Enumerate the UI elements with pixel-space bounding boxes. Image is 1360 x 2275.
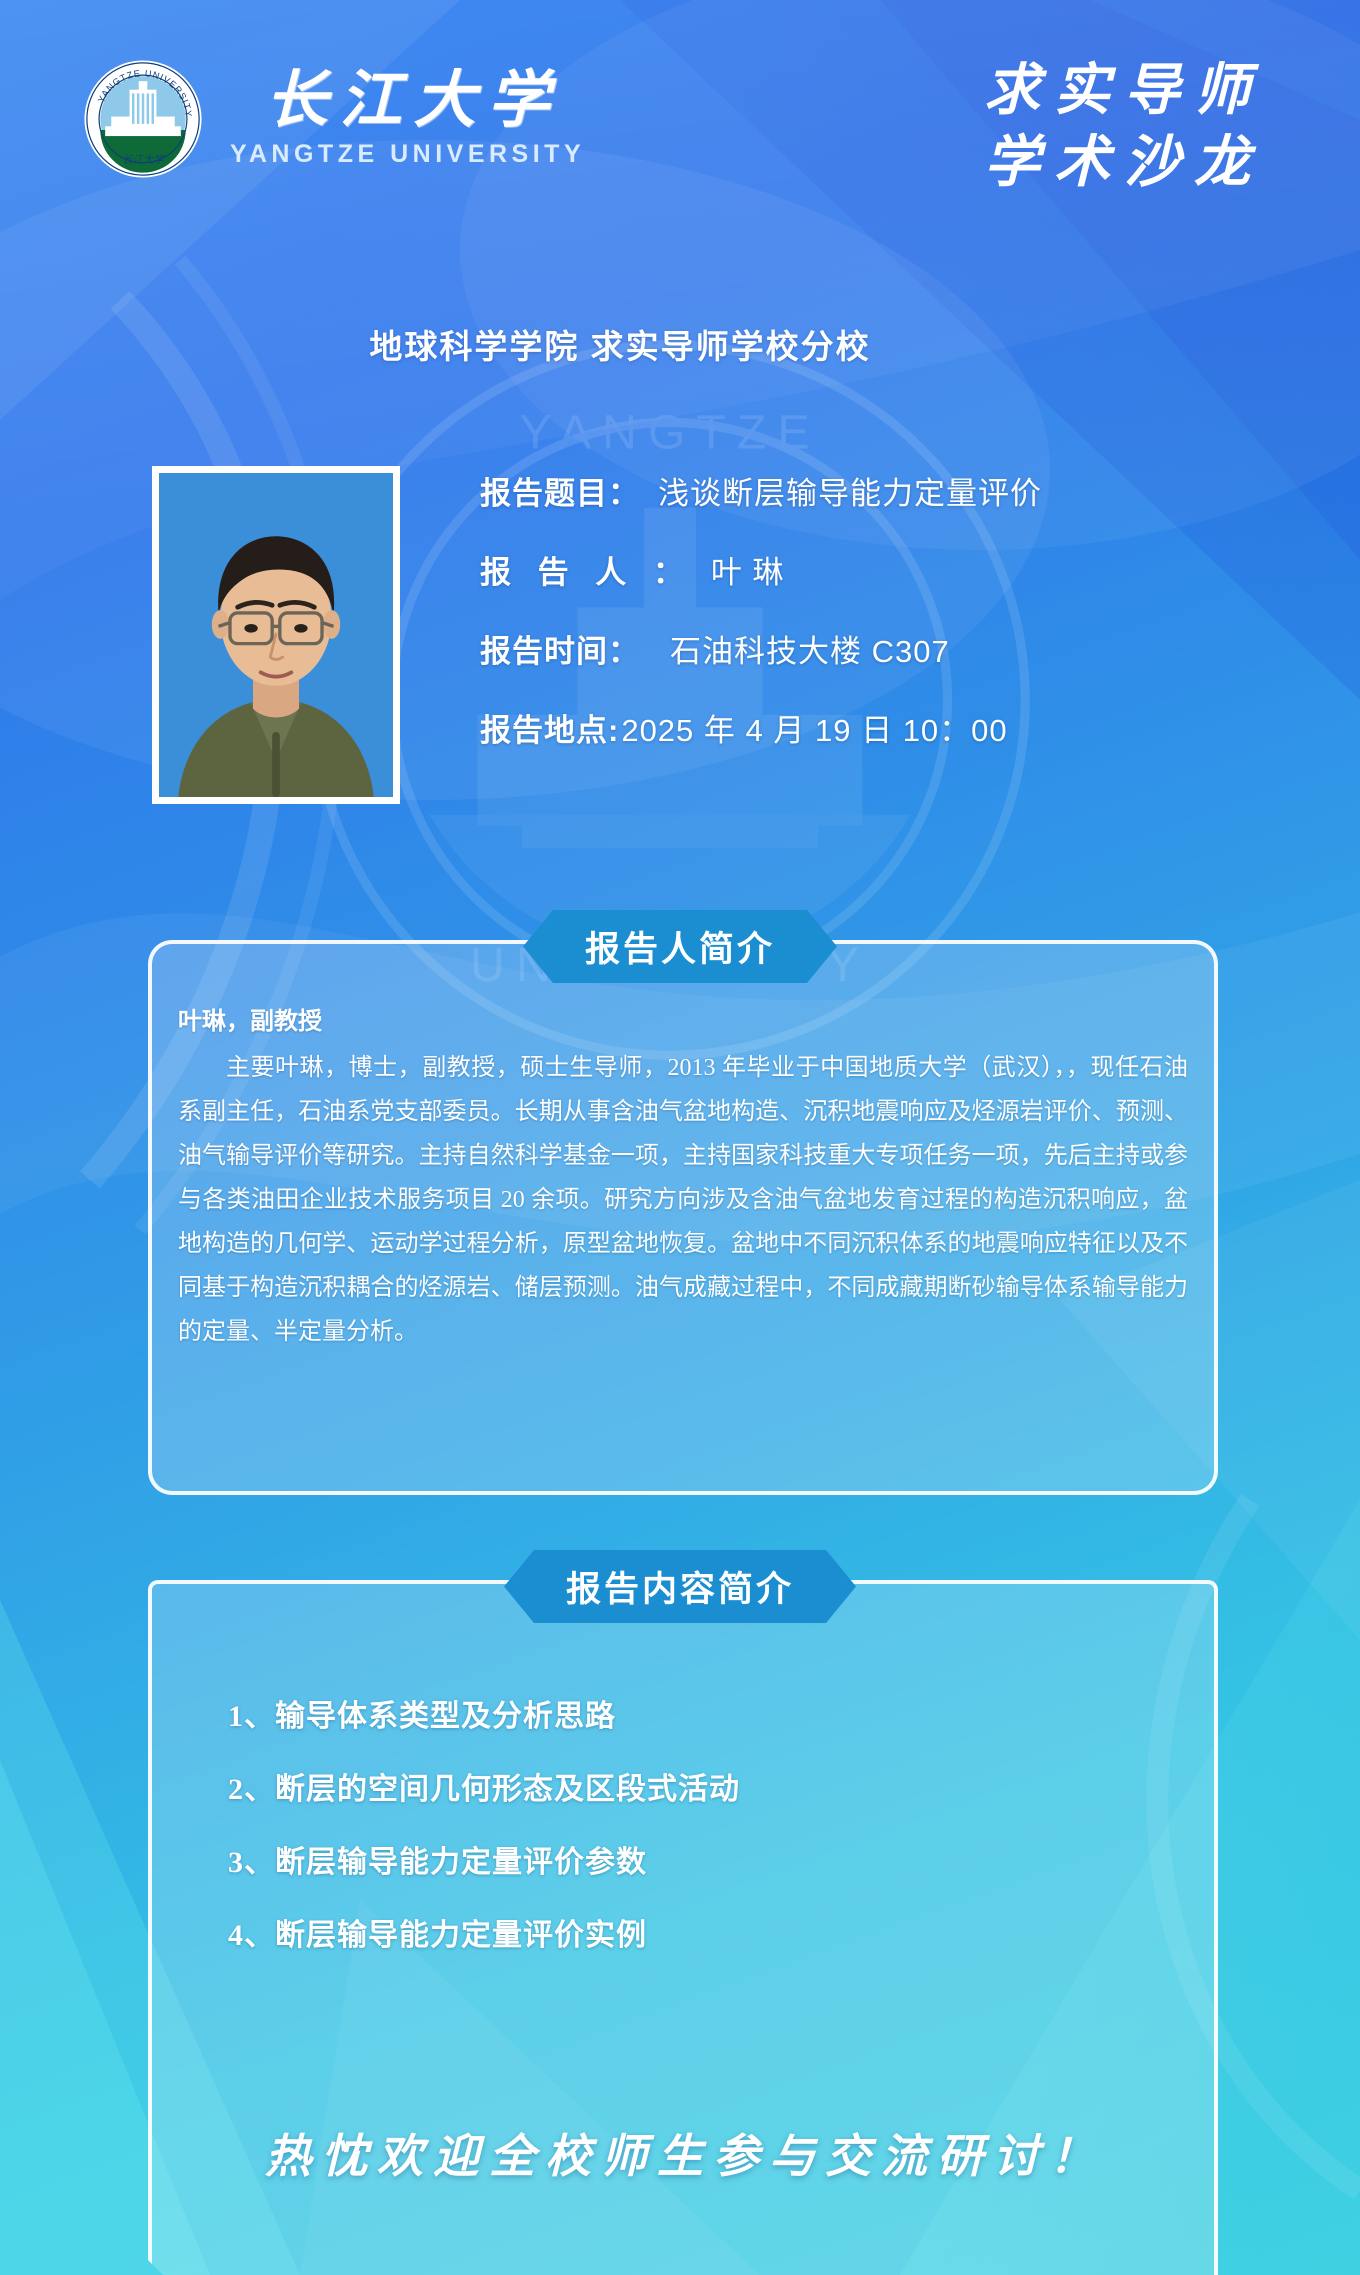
info-row-speaker: 报 告 人 ： 叶 琳	[480, 547, 1280, 592]
content-list-item: 1、输导体系类型及分析思路	[228, 1700, 1128, 1733]
info-value-speaker: 叶 琳	[711, 547, 785, 592]
salon-title-line-1: 求实导师	[970, 56, 1264, 128]
content-list-item: 3、断层输导能力定量评价参数	[228, 1846, 1128, 1879]
salon-title-line-2: 学术沙龙	[970, 128, 1264, 200]
info-label-speaker: 报 告 人 ：	[480, 547, 693, 592]
info-row-place: 报告地点: 2025 年 4 月 19 日 10：00	[480, 705, 1280, 750]
university-name-en: YANGTZE UNIVERSITY	[230, 140, 585, 169]
speaker-bio-title: 报告人简介	[523, 910, 837, 983]
department-line: 地球科学学院 求实导师学校分校	[0, 320, 1360, 368]
info-row-time: 报告时间： 石油科技大楼 C307	[480, 626, 1280, 671]
svg-text:长江大学: 长江大学	[122, 154, 165, 166]
university-name-group: 长江大学 YANGTZE UNIVERSITY	[230, 69, 585, 169]
info-value-title: 浅谈断层输导能力定量评价	[658, 468, 1042, 513]
info-value-time: 石油科技大楼 C307	[670, 626, 950, 671]
speaker-bio-body: 叶琳，副教授 主要叶琳，博士，副教授，硕士生导师，2013 年毕业于中国地质大学…	[178, 1000, 1188, 1354]
university-crest-icon: YANGTZE UNIVERSITY 长江大学	[82, 58, 204, 180]
footer-welcome-text: 热忱欢迎全校师生参与交流研讨！	[0, 2120, 1360, 2186]
speaker-portrait	[152, 466, 400, 804]
content-list-item: 2、断层的空间几何形态及区段式活动	[228, 1773, 1128, 1806]
info-row-title: 报告题目： 浅谈断层输导能力定量评价	[480, 468, 1280, 513]
info-label-place: 报告地点:	[480, 705, 619, 750]
poster-header: YANGTZE UNIVERSITY 长江大学 长江大学 YANGTZE UNI…	[0, 0, 1360, 300]
talk-content-title: 报告内容简介	[504, 1550, 856, 1623]
info-label-time: 报告时间：	[480, 626, 640, 671]
info-value-place: 2025 年 4 月 19 日 10：00	[621, 705, 1007, 750]
talk-info-list: 报告题目： 浅谈断层输导能力定量评价 报 告 人 ： 叶 琳 报告时间： 石油科…	[480, 468, 1280, 750]
speaker-bio-paragraph: 主要叶琳，博士，副教授，硕士生导师，2013 年毕业于中国地质大学（武汉），，现…	[178, 1046, 1188, 1354]
salon-title: 求实导师 学术沙龙	[970, 56, 1264, 199]
portrait-illustration	[159, 473, 393, 797]
info-label-title: 报告题目：	[480, 468, 640, 513]
talk-content-list: 1、输导体系类型及分析思路 2、断层的空间几何形态及区段式活动 3、断层输导能力…	[228, 1700, 1128, 1952]
poster-root: YANGTZE UNIVERSITY	[0, 0, 1360, 2275]
university-name-cn: 长江大学	[254, 69, 562, 134]
content-list-item: 4、断层输导能力定量评价实例	[228, 1919, 1128, 1952]
speaker-bio-name: 叶琳，副教授	[178, 1000, 1188, 1044]
university-logo-block: YANGTZE UNIVERSITY 长江大学 长江大学 YANGTZE UNI…	[82, 58, 585, 180]
